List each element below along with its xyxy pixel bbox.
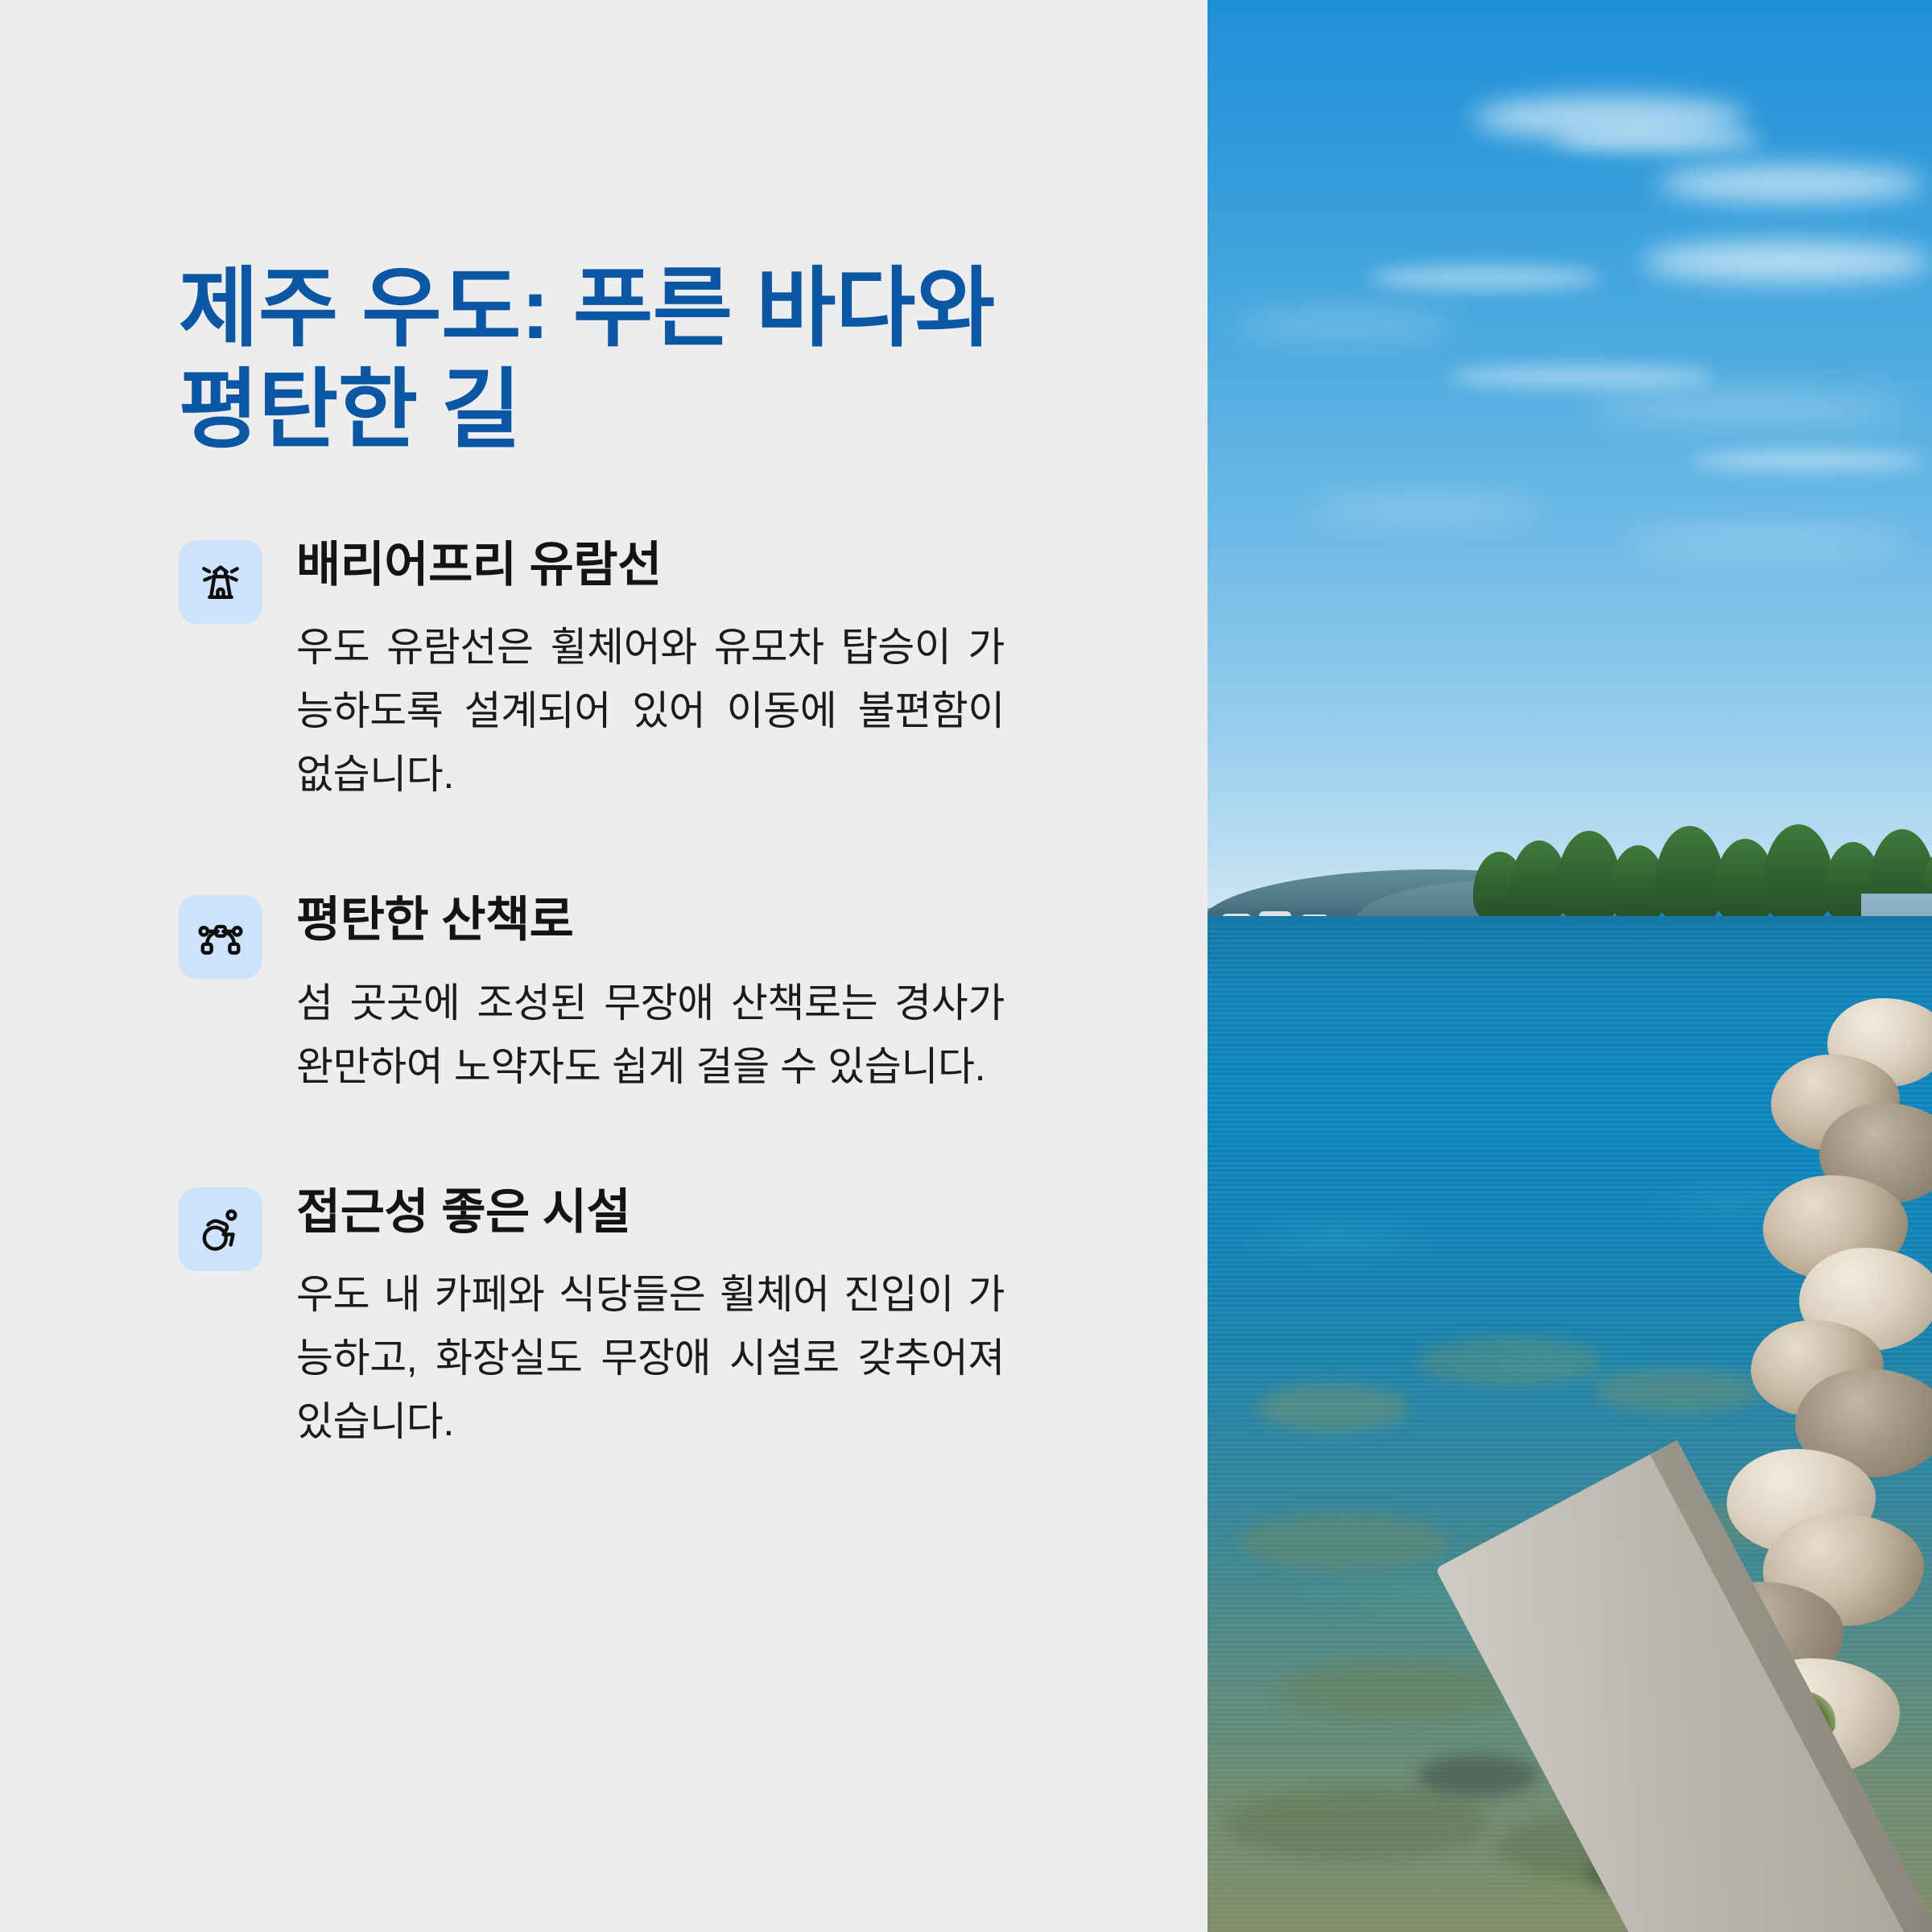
cloud — [1658, 165, 1924, 202]
cloud — [1642, 242, 1932, 282]
slide-card: 제주 우도: 푸른 바다와 평탄한 길 — [0, 0, 1932, 1932]
bezier-curve-icon — [196, 912, 246, 962]
cloud — [1304, 499, 1546, 518]
accessible-wheelchair-icon — [196, 1204, 246, 1254]
icon-chip — [179, 895, 262, 979]
feature-heading: 접근성 좋은 시설 — [296, 1183, 1005, 1242]
coastal-photo — [1207, 0, 1932, 1932]
cloud — [1586, 394, 1908, 422]
icon-chip — [179, 540, 262, 624]
pine-tree — [1763, 824, 1834, 919]
feature-text: 접근성 좋은 시설 우도 내 카페와 식당들은 휠체어 진입이 가능하고, 화장… — [296, 1183, 1005, 1454]
page-title: 제주 우도: 푸른 바다와 평탄한 길 — [179, 258, 1032, 461]
cloud — [1368, 266, 1602, 290]
cloud — [1554, 129, 1763, 153]
feature-description: 우도 유람선은 휠체어와 유모차 탑승이 가능하도록 설계되어 있어 이동에 불… — [296, 616, 1005, 807]
cloud — [1449, 366, 1715, 387]
feature-list: 배리어프리 유람선 우도 유람선은 휠체어와 유모차 탑승이 가능하도록 설계되… — [179, 535, 1207, 1454]
feature-description: 우도 내 카페와 식당들은 휠체어 진입이 가능하고, 화장실도 무장애 시설로… — [296, 1263, 1005, 1454]
lighthouse-icon — [196, 557, 246, 607]
feature-description: 섬 곳곳에 조성된 무장애 산책로는 경사가 완만하여 노약자도 쉽게 걸을 수… — [296, 972, 1005, 1099]
cloud — [1232, 314, 1457, 335]
cloud — [1626, 531, 1908, 554]
pine-tree — [1655, 826, 1724, 919]
feature-item: 접근성 좋은 시설 우도 내 카페와 식당들은 휠체어 진입이 가능하고, 화장… — [179, 1183, 1207, 1454]
icon-chip — [179, 1187, 262, 1271]
photo-canvas — [1207, 0, 1932, 1932]
content-panel: 제주 우도: 푸른 바다와 평탄한 길 — [0, 0, 1207, 1932]
cloud — [1690, 451, 1924, 470]
feature-item: 평탄한 산책로 섬 곳곳에 조성된 무장애 산책로는 경사가 완만하여 노약자도… — [179, 890, 1207, 1098]
feature-text: 평탄한 산책로 섬 곳곳에 조성된 무장애 산책로는 경사가 완만하여 노약자도… — [296, 890, 1005, 1098]
feature-heading: 평탄한 산책로 — [296, 890, 1005, 950]
feature-item: 배리어프리 유람선 우도 유람선은 휠체어와 유모차 탑승이 가능하도록 설계되… — [179, 535, 1207, 807]
feature-text: 배리어프리 유람선 우도 유람선은 휠체어와 유모차 탑승이 가능하도록 설계되… — [296, 535, 1005, 807]
feature-heading: 배리어프리 유람선 — [296, 535, 1005, 595]
